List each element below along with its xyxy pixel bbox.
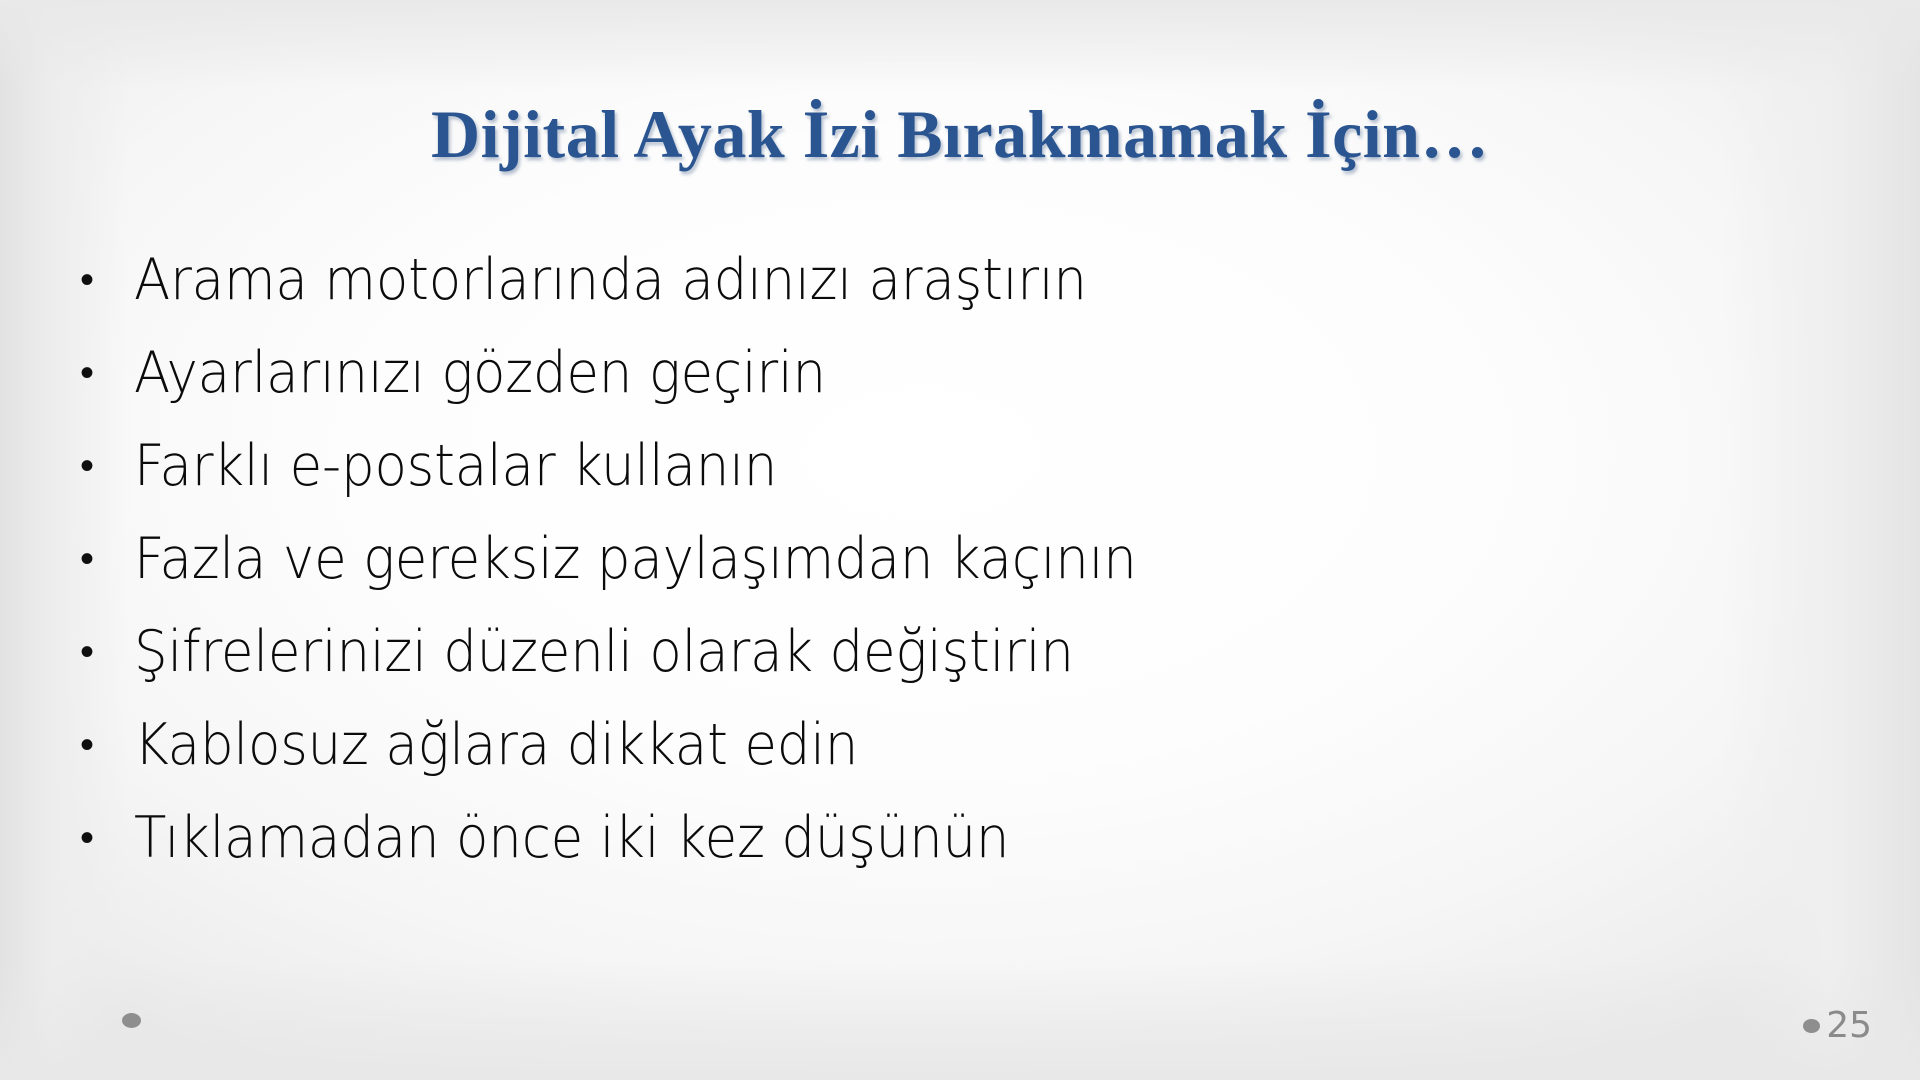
bullet-point-icon: • (72, 539, 134, 579)
page-number-group: 25 (1803, 1008, 1872, 1044)
bullet-item-text: Arama motorlarında adınızı araştırın (134, 252, 1676, 309)
list-item: • Arama motorlarında adınızı araştırın (72, 252, 1792, 345)
bullet-point-icon: • (72, 818, 134, 858)
bullet-point-icon: • (72, 446, 134, 486)
list-item: • Şifrelerinizi düzenli olarak değiştiri… (72, 624, 1792, 717)
list-item: • Farklı e-postalar kullanın (72, 438, 1792, 531)
bullet-item-text: Farklı e-postalar kullanın (134, 438, 1676, 495)
bullet-point-icon: • (72, 353, 134, 393)
background-top-gradient (0, 0, 1920, 90)
bullet-item-text: Kablosuz ağlara dikkat edin (134, 717, 1676, 774)
slide-title-container: Dijital Ayak İzi Bırakmamak İçin… (0, 100, 1920, 168)
bullet-point-icon: • (72, 260, 134, 300)
page-number-dot-icon (1803, 1019, 1820, 1033)
bullet-item-text: Fazla ve gereksiz paylaşımdan kaçının (134, 531, 1676, 588)
bullet-point-icon: • (72, 632, 134, 672)
list-item: • Tıklamadan önce iki kez düşünün (72, 810, 1792, 903)
list-item: • Ayarlarınızı gözden geçirin (72, 345, 1792, 438)
bullet-item-text: Şifrelerinizi düzenli olarak değiştirin (134, 624, 1676, 681)
background-bottom-gradient (0, 960, 1920, 1080)
list-item: • Fazla ve gereksiz paylaşımdan kaçının (72, 531, 1792, 624)
slide-title: Dijital Ayak İzi Bırakmamak İçin… (431, 100, 1489, 168)
bullet-point-icon: • (72, 725, 134, 765)
bullet-list: • Arama motorlarında adınızı araştırın •… (72, 252, 1792, 903)
bullet-item-text: Tıklamadan önce iki kez düşünün (134, 810, 1676, 867)
bullet-item-text: Ayarlarınızı gözden geçirin (134, 345, 1676, 402)
footer-decoration-dot-icon (122, 1013, 141, 1028)
presentation-slide: Dijital Ayak İzi Bırakmamak İçin… • Aram… (0, 0, 1920, 1080)
list-item: • Kablosuz ağlara dikkat edin (72, 717, 1792, 810)
page-number: 25 (1826, 1008, 1872, 1044)
